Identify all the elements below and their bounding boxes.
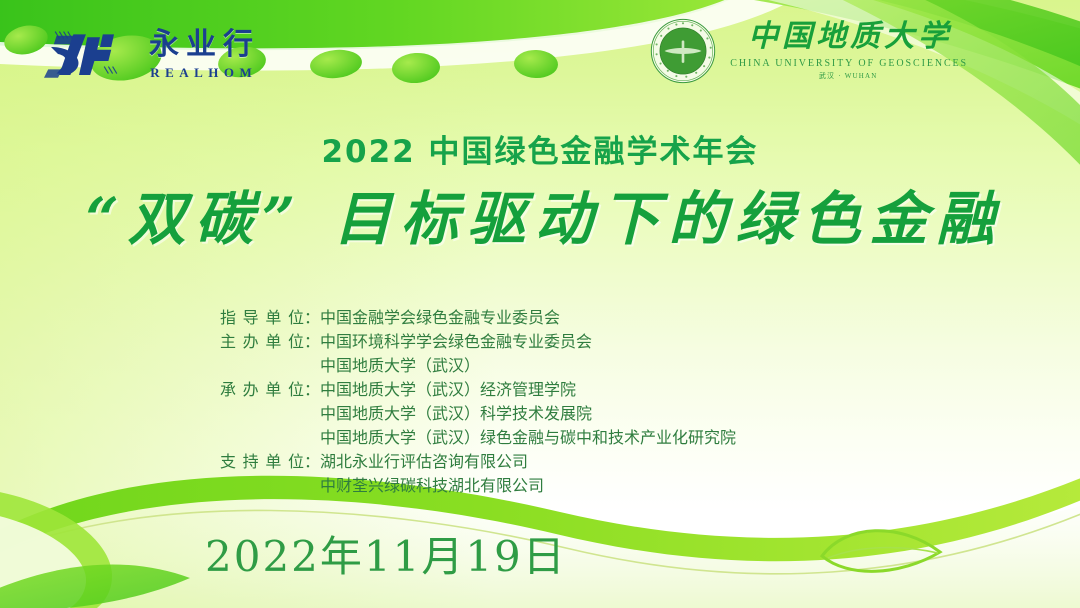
organizer-colon: ： — [304, 450, 320, 474]
organizer-label: 支持单位 — [220, 450, 304, 474]
conference-headline: “双碳” 目标驱动下的绿色金融 — [0, 186, 1080, 253]
organizer-value: 中国环境科学学会绿色金融专业委员会 — [320, 330, 860, 354]
cug-logo: 中国地质大学 CHINA UNIVERSITY OF GEOSCIENCES 武… — [650, 18, 968, 84]
organizer-value: 中国地质大学（武汉）科学技术发展院 — [320, 402, 860, 426]
organizer-value: 中国地质大学（武汉） — [320, 354, 860, 378]
event-date: 2022年11月19日 — [205, 523, 567, 584]
organizer-row: 承办单位：中国地质大学（武汉）经济管理学院 — [220, 378, 860, 402]
organizer-row: 承办单位：中国地质大学（武汉）科学技术发展院 — [220, 402, 860, 426]
organizer-row: 承办单位：中国地质大学（武汉）绿色金融与碳中和技术产业化研究院 — [220, 426, 860, 450]
organizer-value: 中国地质大学（武汉）绿色金融与碳中和技术产业化研究院 — [320, 426, 860, 450]
organizer-value: 中财荃兴绿碳科技湖北有限公司 — [320, 474, 860, 498]
organizer-colon: ： — [304, 306, 320, 330]
organizer-row: 支持单位：湖北永业行评估咨询有限公司 — [220, 450, 860, 474]
organizer-value: 中国地质大学（武汉）经济管理学院 — [320, 378, 860, 402]
organizer-row: 支持单位：中财荃兴绿碳科技湖北有限公司 — [220, 474, 860, 498]
yh-monogram-icon — [44, 26, 128, 82]
conference-subtitle: 2022 中国绿色金融学术年会 — [0, 126, 1080, 171]
cug-logo-campus: 武汉 · WUHAN — [819, 73, 878, 80]
organizer-value: 湖北永业行评估咨询有限公司 — [320, 450, 860, 474]
organizer-label: 承办单位 — [220, 378, 304, 402]
organizer-row: 指导单位：中国金融学会绿色金融专业委员会 — [220, 306, 860, 330]
conference-poster: 永业行 REALHOM — [0, 0, 1080, 608]
realhom-logo-chinese: 永业行 — [142, 30, 260, 60]
organizer-label: 主办单位 — [220, 330, 304, 354]
organizer-list: 指导单位：中国金融学会绿色金融专业委员会主办单位：中国环境科学学会绿色金融专业委… — [220, 306, 860, 498]
organizer-value: 中国金融学会绿色金融专业委员会 — [320, 306, 860, 330]
cug-logo-chinese: 中国地质大学 — [744, 22, 952, 52]
organizer-colon: ： — [304, 330, 320, 354]
organizer-row: 主办单位：中国环境科学学会绿色金融专业委员会 — [220, 330, 860, 354]
organizer-colon: ： — [304, 378, 320, 402]
cug-logo-english: CHINA UNIVERSITY OF GEOSCIENCES — [728, 59, 968, 69]
cug-seal-icon — [650, 18, 716, 84]
realhom-logo: 永业行 REALHOM — [44, 26, 260, 82]
organizer-label: 指导单位 — [220, 306, 304, 330]
organizer-block: 指导单位：中国金融学会绿色金融专业委员会主办单位：中国环境科学学会绿色金融专业委… — [0, 306, 1080, 498]
background-gradient — [0, 0, 1080, 608]
organizer-row: 主办单位：中国地质大学（武汉） — [220, 354, 860, 378]
realhom-logo-english: REALHOM — [145, 66, 258, 79]
